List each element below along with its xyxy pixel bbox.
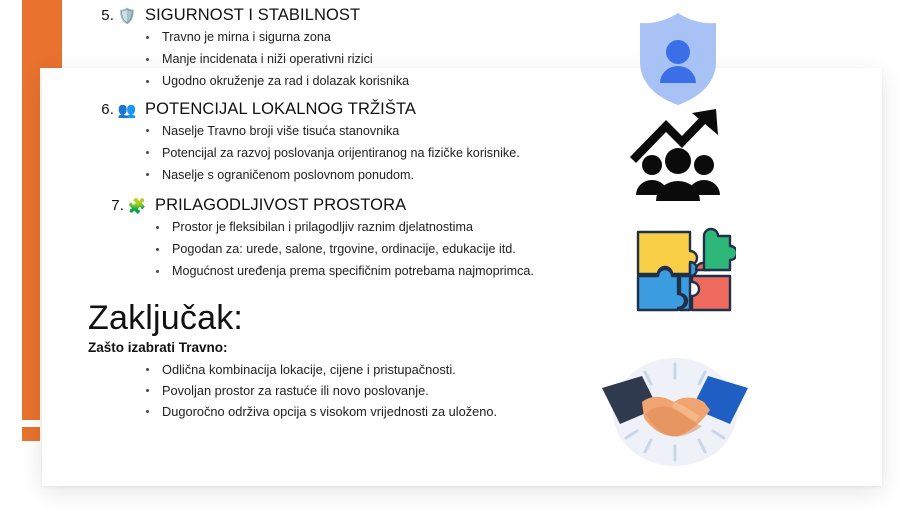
decor-orange-block-top: [22, 0, 62, 68]
list-item-5: 5. 🛡️ SIGURNOST I STABILNOST Travno je m…: [88, 6, 608, 91]
list-item: Mogućnost uređenja prema specifičnim pot…: [154, 262, 608, 281]
list-item: Naselje s ograničenom poslovnom ponudom.: [144, 166, 608, 185]
list-item-7: 7. 🧩 PRILAGODLJIVOST PROSTORA Prostor je…: [88, 196, 608, 281]
section-title-6: POTENCIJAL LOKALNOG TRŽIŠTA: [140, 100, 416, 119]
conclusion-subheading: Zašto izabrati Travno:: [88, 340, 608, 355]
section-number-6: 6.: [88, 101, 114, 118]
section-number-5: 5.: [88, 7, 114, 24]
decor-orange-square: [22, 427, 40, 441]
list-item: Prostor je fleksibilan i prilagodljiv ra…: [154, 218, 608, 237]
conclusion-bullet-list: Odlična kombinacija lokacije, cijene i p…: [88, 359, 608, 422]
list-item: Naselje Travno broji više tisuća stanovn…: [144, 122, 608, 141]
list-item: Potencijal za razvoj poslovanja orijenti…: [144, 144, 608, 163]
list-item: Travno je mirna i sigurna zona: [144, 28, 608, 47]
section-heading-7: 7. 🧩 PRILAGODLJIVOST PROSTORA: [88, 196, 608, 215]
conclusion-block: Zaključak: Zašto izabrati Travno: Odličn…: [88, 299, 608, 422]
list-item: Dugoročno održiva opcija s visokom vrije…: [144, 401, 608, 422]
decor-orange-bar: [22, 68, 40, 420]
list-item-6: 6. 👥 POTENCIJAL LOKALNOG TRŽIŠTA Naselje…: [88, 100, 608, 185]
people-emoji-icon: 👥: [114, 103, 140, 118]
section-heading-5: 5. 🛡️ SIGURNOST I STABILNOST: [88, 6, 608, 25]
section-heading-6: 6. 👥 POTENCIJAL LOKALNOG TRŽIŠTA: [88, 100, 608, 119]
conclusion-heading: Zaključak:: [88, 299, 608, 338]
list-item: Odlična kombinacija lokacije, cijene i p…: [144, 359, 608, 380]
shield-emoji-icon: 🛡️: [114, 9, 140, 24]
puzzle-emoji-icon: 🧩: [124, 199, 150, 214]
list-item: Povoljan prostor za rastuće ili novo pos…: [144, 380, 608, 401]
puzzle-pieces-illustration: [632, 226, 736, 319]
list-item: Pogodan za: urede, salone, trgovine, ord…: [154, 240, 608, 259]
bullet-list-7: Prostor je fleksibilan i prilagodljiv ra…: [88, 218, 608, 281]
content-column: 5. 🛡️ SIGURNOST I STABILNOST Travno je m…: [88, 6, 608, 422]
bullet-list-6: Naselje Travno broji više tisuća stanovn…: [88, 122, 608, 185]
section-title-7: PRILAGODLJIVOST PROSTORA: [150, 196, 406, 215]
section-number-7: 7.: [98, 197, 124, 214]
section-title-5: SIGURNOST I STABILNOST: [140, 6, 360, 25]
bullet-list-5: Travno je mirna i sigurna zona Manje inc…: [88, 28, 608, 91]
list-item: Manje incidenata i niži operativni rizic…: [144, 50, 608, 69]
shield-person-illustration: [632, 10, 724, 113]
growth-arrow-people-illustration: [630, 101, 726, 210]
slide: 5. 🛡️ SIGURNOST I STABILNOST Travno je m…: [0, 0, 920, 514]
slide-card: 5. 🛡️ SIGURNOST I STABILNOST Travno je m…: [42, 68, 882, 486]
list-item: Ugodno okruženje za rad i dolazak korisn…: [144, 72, 608, 91]
handshake-illustration: [590, 352, 760, 477]
